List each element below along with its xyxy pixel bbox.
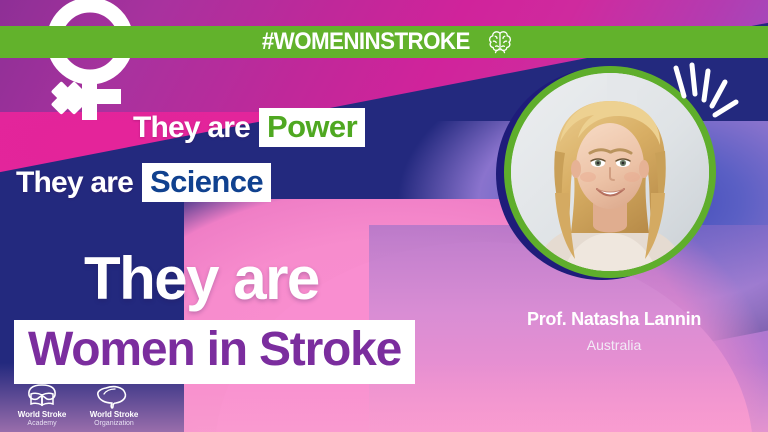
headline-line-power: They are Power xyxy=(133,108,365,147)
world-stroke-academy-logo[interactable]: World Stroke Academy xyxy=(12,383,72,428)
world-stroke-organization-logo-icon xyxy=(84,383,144,409)
logo-organization-line1: World Stroke xyxy=(84,410,144,419)
headline-women-in-stroke: Women in Stroke xyxy=(14,320,415,384)
brain-icon xyxy=(486,30,514,54)
logo-group: World Stroke Academy World Stroke Organi… xyxy=(12,383,144,428)
logo-academy-line2: Academy xyxy=(12,420,72,428)
headline-line-science: They are Science xyxy=(16,163,271,202)
world-stroke-organization-logo[interactable]: World Stroke Organization xyxy=(84,383,144,428)
headline-highlight-science: Science xyxy=(142,163,271,202)
hashtag-text: #WOMENINSTROKE xyxy=(262,30,470,54)
logo-academy-line1: World Stroke xyxy=(12,410,72,419)
speaker-name: Prof. Natasha Lannin xyxy=(504,310,724,328)
headline-lead-2: They are xyxy=(16,168,133,198)
headline-lead-1: They are xyxy=(133,113,250,143)
headline-they-are: They are xyxy=(84,249,319,309)
sparkle-lines-icon xyxy=(668,62,752,134)
campaign-poster: #WOMENINSTROKE They are Power They are S… xyxy=(0,0,768,432)
world-stroke-academy-logo-icon xyxy=(12,383,72,409)
hashtag-banner: #WOMENINSTROKE xyxy=(0,26,768,58)
venus-female-symbol-icon xyxy=(18,0,148,134)
speaker-country: Australia xyxy=(504,338,724,352)
headline-highlight-power: Power xyxy=(259,108,365,147)
logo-organization-line2: Organization xyxy=(84,420,144,428)
